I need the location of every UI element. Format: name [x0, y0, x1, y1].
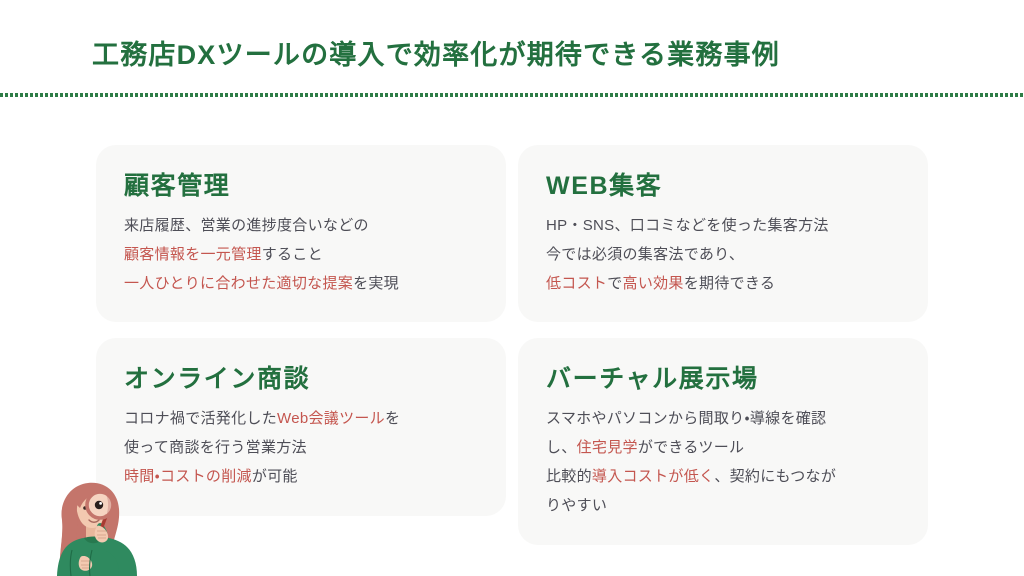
- text-run-highlight: 一人ひとりに合わせた適切な提案: [124, 275, 353, 292]
- card-body: 来店履歴、営業の進捗度合いなどの 顧客情報を一元管理すること 一人ひとりに合わせ…: [124, 212, 478, 298]
- card-virtual-showroom: バーチャル展示場 スマホやパソコンから間取り・導線を確認 し、住宅見学ができるツ…: [518, 338, 928, 544]
- text-run: で: [607, 275, 622, 292]
- text-run: し、: [546, 439, 577, 456]
- text-run: 来店履歴、営業の進捗度合いなどの: [124, 217, 369, 234]
- card-heading: WEB集客: [546, 171, 900, 201]
- card-online-meeting: オンライン商談 コロナ禍で活発化したWeb会議ツールを 使って商談を行う営業方法…: [96, 338, 506, 515]
- text-run: を期待できる: [684, 275, 776, 292]
- eye-highlight: [99, 502, 102, 505]
- text-run: すること: [262, 246, 323, 263]
- text-run-highlight: 顧客情報を一元管理: [124, 246, 262, 263]
- card-line: コロナ禍で活発化したWeb会議ツールを: [124, 405, 478, 434]
- text-run-highlight: 低コスト: [546, 275, 607, 292]
- card-line: HP・SNS、口コミなどを使った集客方法: [546, 212, 900, 241]
- woman-with-magnifying-glass-illustration: [44, 478, 152, 576]
- eye-magnified: [95, 501, 103, 509]
- text-run: りやすい: [546, 497, 607, 514]
- text-run: コロナ禍で活発化した: [124, 410, 277, 427]
- card-line: スマホやパソコンから間取り・導線を確認: [546, 405, 900, 434]
- text-run-highlight: Web会議ツール: [277, 410, 385, 427]
- card-body: スマホやパソコンから間取り・導線を確認 し、住宅見学ができるツール 比較的導入コ…: [546, 405, 900, 520]
- card-line: 一人ひとりに合わせた適切な提案を実現: [124, 270, 478, 299]
- text-run-highlight: 導入コストが低く: [592, 468, 714, 485]
- card-line: 使って商談を行う営業方法: [124, 434, 478, 463]
- text-run: が可能: [252, 468, 298, 485]
- text-run: 比較的: [546, 468, 592, 485]
- text-run: スマホやパソコンから間取り・導線を確認: [546, 410, 826, 427]
- card-customer-management: 顧客管理 来店履歴、営業の進捗度合いなどの 顧客情報を一元管理すること 一人ひと…: [96, 145, 506, 322]
- text-run-highlight: 高い効果: [623, 275, 684, 292]
- card-line: 低コストで高い効果を期待できる: [546, 270, 900, 299]
- text-run: 今では必須の集客法であり、: [546, 246, 744, 263]
- text-run: ができるツール: [638, 439, 745, 456]
- card-body: HP・SNS、口コミなどを使った集客方法 今では必須の集客法であり、 低コストで…: [546, 212, 900, 298]
- text-run: を実現: [353, 275, 399, 292]
- text-run: を: [385, 410, 400, 427]
- card-heading: バーチャル展示場: [546, 364, 900, 394]
- card-grid: 顧客管理 来店履歴、営業の進捗度合いなどの 顧客情報を一元管理すること 一人ひと…: [96, 145, 928, 545]
- text-run-highlight: 住宅見学: [577, 439, 638, 456]
- card-line: 来店履歴、営業の進捗度合いなどの: [124, 212, 478, 241]
- dotted-divider: [0, 93, 1024, 97]
- card-heading: 顧客管理: [124, 171, 478, 201]
- card-line: し、住宅見学ができるツール: [546, 434, 900, 463]
- card-line: 今では必須の集客法であり、: [546, 241, 900, 270]
- card-body: コロナ禍で活発化したWeb会議ツールを 使って商談を行う営業方法 時間・コストの…: [124, 405, 478, 491]
- card-line: 時間・コストの削減が可能: [124, 463, 478, 492]
- text-run: 使って商談を行う営業方法: [124, 439, 307, 456]
- text-run: HP・SNS、口コミなどを使った集客方法: [546, 217, 829, 234]
- card-web-marketing: WEB集客 HP・SNS、口コミなどを使った集客方法 今では必須の集客法であり、…: [518, 145, 928, 322]
- page-title: 工務店DXツールの導入で効率化が期待できる業務事例: [92, 40, 780, 71]
- card-line: 顧客情報を一元管理すること: [124, 241, 478, 270]
- card-line: りやすい: [546, 492, 900, 521]
- card-line: 比較的導入コストが低く、契約にもつなが: [546, 463, 900, 492]
- illustration-svg: [44, 478, 152, 576]
- text-run: 、契約にもつなが: [714, 468, 836, 485]
- card-heading: オンライン商談: [124, 364, 478, 394]
